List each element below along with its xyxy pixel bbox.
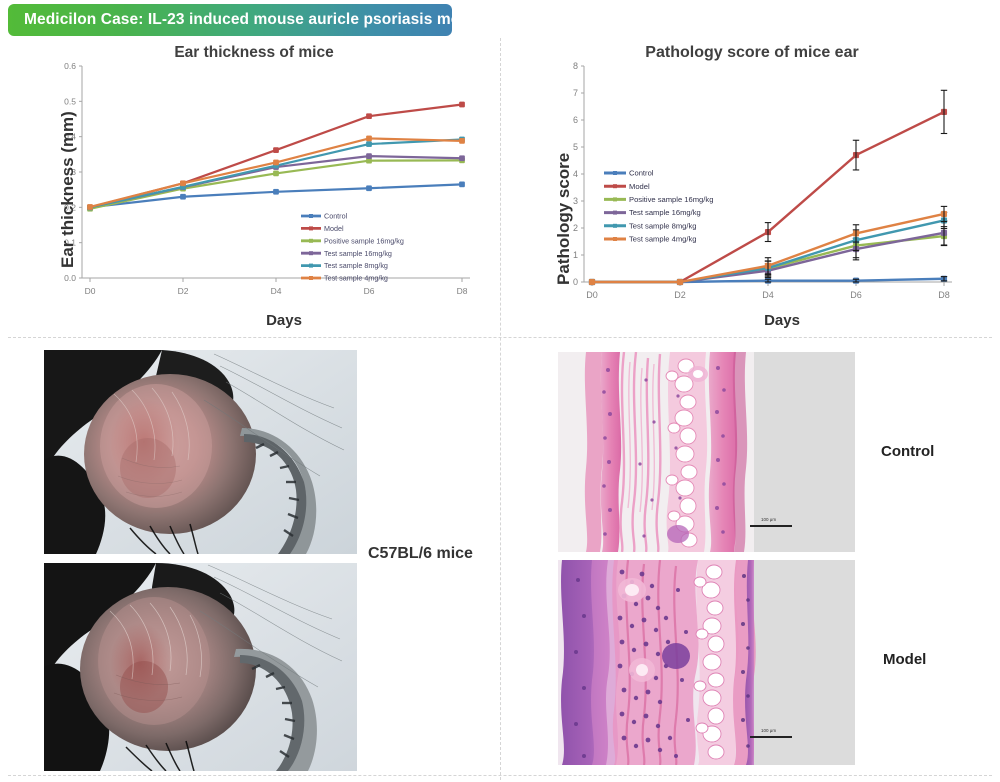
svg-text:Test sample 4mg/kg: Test sample 4mg/kg [629,235,697,244]
header-banner: Medicilon Case: IL-23 induced mouse auri… [8,4,452,36]
pathology-score-plot: 012345678D0D2D4D6D8ControlModelPositive … [512,40,992,335]
svg-text:D8: D8 [457,286,468,296]
vertical-divider [500,38,501,780]
histology-image-control: 100 μm [558,352,855,552]
scalebar-label-model: 100 μm [761,728,776,733]
svg-text:Test sample 8mg/kg: Test sample 8mg/kg [324,261,388,270]
horizontal-divider [8,337,992,338]
svg-text:Model: Model [324,224,344,233]
x-axis-label-ear-thickness: Days [94,312,474,329]
svg-text:Test sample 16mg/kg: Test sample 16mg/kg [324,249,392,258]
figure-page: Medicilon Case: IL-23 induced mouse auri… [0,0,1000,782]
scalebar-control [750,525,792,527]
scalebar-label-control: 100 μm [761,517,776,522]
svg-text:D8: D8 [938,290,950,300]
histology-label-control: Control [881,443,934,460]
svg-text:D4: D4 [762,290,774,300]
ear-thickness-plot: 0.00.10.20.30.40.50.6D0D2D4D6D8ControlMo… [14,40,494,335]
svg-text:7: 7 [573,88,578,98]
chart-ear-thickness: Ear thickness of mice 0.00.10.20.30.40.5… [14,40,494,335]
svg-text:6: 6 [573,115,578,125]
svg-text:0.5: 0.5 [64,96,76,106]
svg-text:8: 8 [573,61,578,71]
svg-text:D6: D6 [364,286,375,296]
svg-text:D4: D4 [271,286,282,296]
chart-pathology-score: Pathology score of mice ear 012345678D0D… [512,40,992,335]
svg-text:0.6: 0.6 [64,61,76,71]
svg-text:D0: D0 [85,286,96,296]
x-axis-label-pathology-score: Days [592,312,972,329]
svg-text:Positive sample 16mg/kg: Positive sample 16mg/kg [629,195,713,204]
mouse-photo-caption: C57BL/6 mice [368,545,473,563]
he-section-model [558,560,855,765]
svg-text:D6: D6 [850,290,862,300]
svg-text:Control: Control [629,169,654,178]
mouse-ear-image-top [44,350,357,554]
scalebar-model [750,736,792,738]
svg-text:Model: Model [629,182,650,191]
histology-image-model: 100 μm [558,560,855,765]
svg-text:5: 5 [573,142,578,152]
svg-text:Control: Control [324,212,348,221]
svg-text:Test sample 16mg/kg: Test sample 16mg/kg [629,208,701,217]
he-section-control [558,352,855,552]
mouse-photo-top [44,350,357,554]
y-axis-label-pathology-score: Pathology score [554,153,574,285]
svg-text:Test sample 8mg/kg: Test sample 8mg/kg [629,221,697,230]
bottom-divider [8,775,992,776]
svg-text:Positive sample 16mg/kg: Positive sample 16mg/kg [324,236,404,245]
page-title: Medicilon Case: IL-23 induced mouse auri… [8,11,483,29]
svg-text:D2: D2 [178,286,189,296]
svg-text:D2: D2 [674,290,686,300]
svg-text:0.0: 0.0 [64,273,76,283]
mouse-photo-bottom [44,563,357,771]
mouse-ear-image-bottom [44,563,357,771]
y-axis-label-ear-thickness: Ear thickness (mm) [58,111,78,268]
svg-text:Test sample 4mg/kg: Test sample 4mg/kg [324,274,388,283]
histology-label-model: Model [883,651,926,668]
svg-text:D0: D0 [586,290,598,300]
